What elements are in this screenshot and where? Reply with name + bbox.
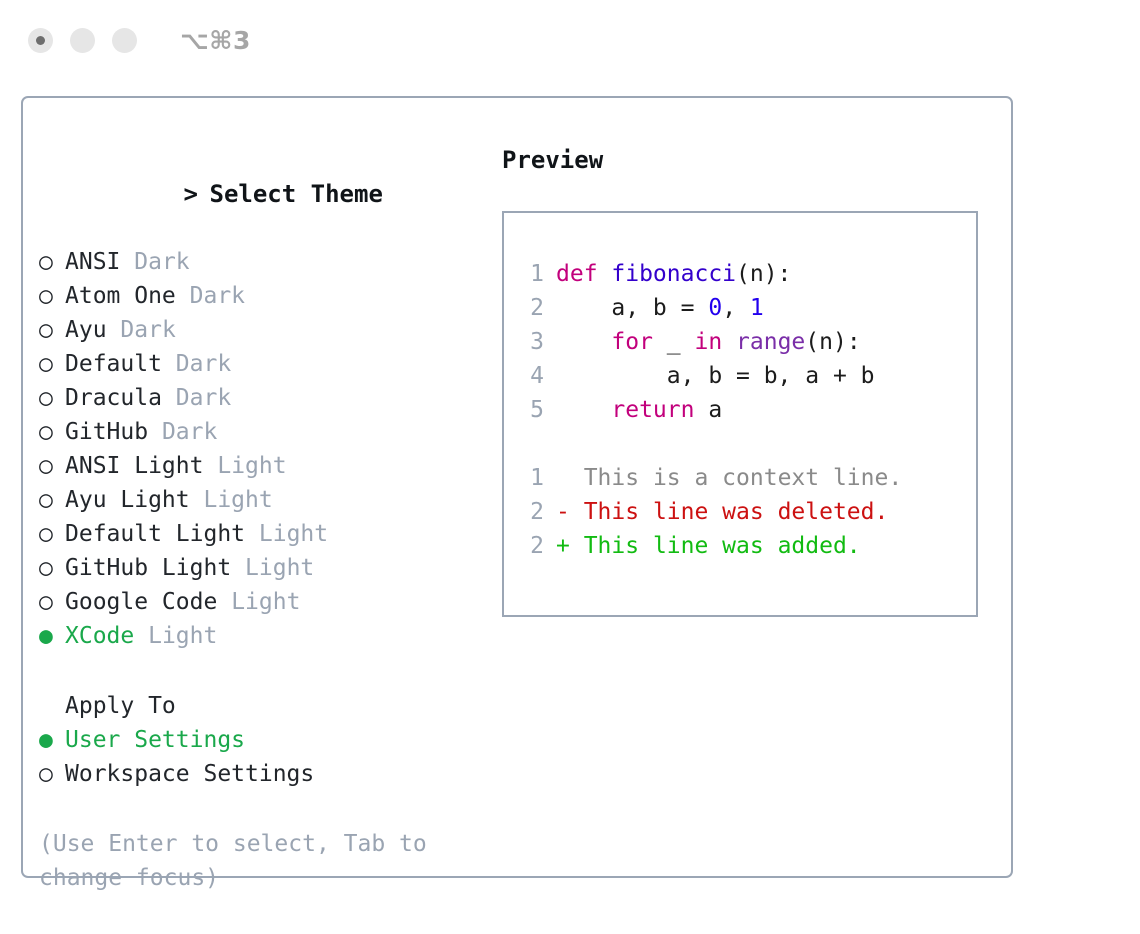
theme-name-label: Ayu [65, 317, 107, 343]
window-maximize-button[interactable] [112, 28, 137, 53]
preview-title: Preview [502, 143, 1002, 177]
cursor-caret-icon: > [184, 177, 210, 211]
radio-unselected-icon: ○ [39, 381, 65, 415]
preview-gap [504, 427, 976, 461]
select-theme-header: >Select Theme [39, 143, 489, 245]
radio-selected-icon: ● [39, 619, 65, 653]
preview-box: 1def fibonacci(n):2 a, b = 0, 13 for _ i… [502, 211, 978, 617]
theme-name-label: GitHub [65, 419, 148, 445]
theme-name-label: GitHub Light [65, 555, 231, 581]
apply-to-label: User Settings [65, 727, 245, 753]
theme-selector-column: >Select Theme ○ANSI Dark○Atom One Dark○A… [39, 143, 489, 895]
code-line-number: 3 [518, 325, 544, 359]
radio-unselected-icon: ○ [39, 347, 65, 381]
code-line: 3 for _ in range(n): [504, 325, 976, 359]
diff-line: 2+ This line was added. [504, 529, 976, 563]
code-token-call: range [736, 329, 805, 355]
diff-line: 1 This is a context line. [504, 461, 976, 495]
theme-variant-badge: Dark [120, 317, 175, 343]
radio-unselected-icon: ○ [39, 585, 65, 619]
theme-name-label: Default Light [65, 521, 245, 547]
diff-text: This line was added. [570, 533, 861, 559]
radio-unselected-icon: ○ [39, 245, 65, 279]
theme-name-label: Dracula [65, 385, 162, 411]
traffic-lights [28, 28, 137, 53]
theme-name-label: ANSI Light [65, 453, 203, 479]
diff-preview: 1 This is a context line.2- This line wa… [504, 461, 976, 563]
code-token-pln: a [694, 397, 722, 423]
code-line: 5 return a [504, 393, 976, 427]
theme-name-label: Default [65, 351, 162, 377]
theme-variant-badge: Light [245, 555, 314, 581]
theme-name-label: Google Code [65, 589, 217, 615]
code-line-number: 4 [518, 359, 544, 393]
radio-unselected-icon: ○ [39, 449, 65, 483]
radio-selected-icon: ● [39, 723, 65, 757]
theme-variant-badge: Light [231, 589, 300, 615]
theme-variant-badge: Dark [176, 385, 231, 411]
radio-unselected-icon: ○ [39, 483, 65, 517]
code-token-pln [556, 397, 611, 423]
code-line: 2 a, b = 0, 1 [504, 291, 976, 325]
code-token-pln [556, 329, 611, 355]
theme-list: ○ANSI Dark○Atom One Dark○Ayu Dark○Defaul… [39, 245, 489, 653]
theme-variant-badge: Dark [162, 419, 217, 445]
code-preview: 1def fibonacci(n):2 a, b = 0, 13 for _ i… [504, 257, 976, 427]
theme-variant-badge: Light [203, 487, 272, 513]
code-token-pln: , [722, 295, 750, 321]
code-token-kw: return [611, 397, 694, 423]
theme-list-item[interactable]: ○GitHub Light Light [39, 551, 489, 585]
radio-unselected-icon: ○ [39, 517, 65, 551]
code-token-num: 0 [708, 295, 722, 321]
main-panel: >Select Theme ○ANSI Dark○Atom One Dark○A… [21, 96, 1013, 878]
code-line-number: 1 [518, 257, 544, 291]
code-line-number: 5 [518, 393, 544, 427]
theme-variant-badge: Light [259, 521, 328, 547]
diff-line-number: 2 [518, 529, 544, 563]
diff-sign: - [556, 499, 570, 525]
panel-columns: >Select Theme ○ANSI Dark○Atom One Dark○A… [23, 98, 1011, 876]
theme-variant-badge: Dark [134, 249, 189, 275]
code-token-pln: (n): [805, 329, 860, 355]
apply-to-label: Workspace Settings [65, 761, 314, 787]
diff-line: 2- This line was deleted. [504, 495, 976, 529]
theme-name-label: ANSI [65, 249, 120, 275]
code-token-pln [722, 329, 736, 355]
code-line: 1def fibonacci(n): [504, 257, 976, 291]
diff-line-number: 1 [518, 461, 544, 495]
theme-list-item[interactable]: ○Ayu Dark [39, 313, 489, 347]
theme-list-item[interactable]: ○Ayu Light Light [39, 483, 489, 517]
radio-unselected-icon: ○ [39, 757, 65, 791]
theme-variant-badge: Dark [190, 283, 245, 309]
code-token-pln: a, b = [556, 295, 708, 321]
apply-to-list-item[interactable]: ○Workspace Settings [39, 757, 489, 791]
help-hint-text: (Use Enter to select, Tab to change focu… [39, 827, 449, 895]
theme-list-item[interactable]: ○ANSI Dark [39, 245, 489, 279]
apply-to-list: ●User Settings○Workspace Settings [39, 723, 489, 791]
theme-list-item[interactable]: ○Default Dark [39, 347, 489, 381]
radio-unselected-icon: ○ [39, 551, 65, 585]
code-token-pln: a, b = b, a + b [556, 363, 875, 389]
theme-list-item[interactable]: ○GitHub Dark [39, 415, 489, 449]
theme-name-label: Atom One [65, 283, 176, 309]
diff-sign: + [556, 533, 570, 559]
theme-list-item[interactable]: ○Dracula Dark [39, 381, 489, 415]
radio-unselected-icon: ○ [39, 313, 65, 347]
theme-name-label: XCode [65, 623, 134, 649]
code-token-kw: def [556, 261, 611, 287]
title-bar: ⌥⌘3 [0, 0, 1140, 80]
window-close-button[interactable] [28, 28, 53, 53]
code-token-pln: (n): [736, 261, 791, 287]
theme-list-item[interactable]: ○ANSI Light Light [39, 449, 489, 483]
app-window: ⌥⌘3 >Select Theme ○ANSI Dark○Atom One Da… [0, 0, 1140, 934]
code-token-num: 1 [750, 295, 764, 321]
window-minimize-button[interactable] [70, 28, 95, 53]
theme-variant-badge: Light [217, 453, 286, 479]
theme-variant-badge: Light [148, 623, 217, 649]
diff-text: This line was deleted. [570, 499, 889, 525]
code-token-kw: for [611, 329, 653, 355]
active-indicator-dot [36, 36, 45, 45]
radio-unselected-icon: ○ [39, 279, 65, 313]
code-token-kw: in [694, 329, 722, 355]
radio-unselected-icon: ○ [39, 415, 65, 449]
theme-list-item[interactable]: ○Default Light Light [39, 517, 489, 551]
apply-to-section-label: Apply To [39, 689, 489, 723]
code-line: 4 a, b = b, a + b [504, 359, 976, 393]
theme-list-item[interactable]: ○Google Code Light [39, 585, 489, 619]
theme-variant-badge: Dark [176, 351, 231, 377]
code-token-fn: fibonacci [611, 261, 736, 287]
diff-sign [556, 465, 570, 491]
code-token-pln: _ [653, 329, 695, 355]
theme-list-item[interactable]: ●XCode Light [39, 619, 489, 653]
theme-name-label: Ayu Light [65, 487, 190, 513]
diff-line-number: 2 [518, 495, 544, 529]
keyboard-shortcut-label: ⌥⌘3 [180, 26, 251, 55]
theme-list-item[interactable]: ○Atom One Dark [39, 279, 489, 313]
diff-text: This is a context line. [570, 465, 902, 491]
select-theme-header-label: Select Theme [210, 180, 383, 208]
code-line-number: 2 [518, 291, 544, 325]
preview-column: Preview 1def fibonacci(n):2 a, b = 0, 13… [502, 143, 1002, 617]
list-spacer [39, 653, 489, 689]
apply-to-list-item[interactable]: ●User Settings [39, 723, 489, 757]
